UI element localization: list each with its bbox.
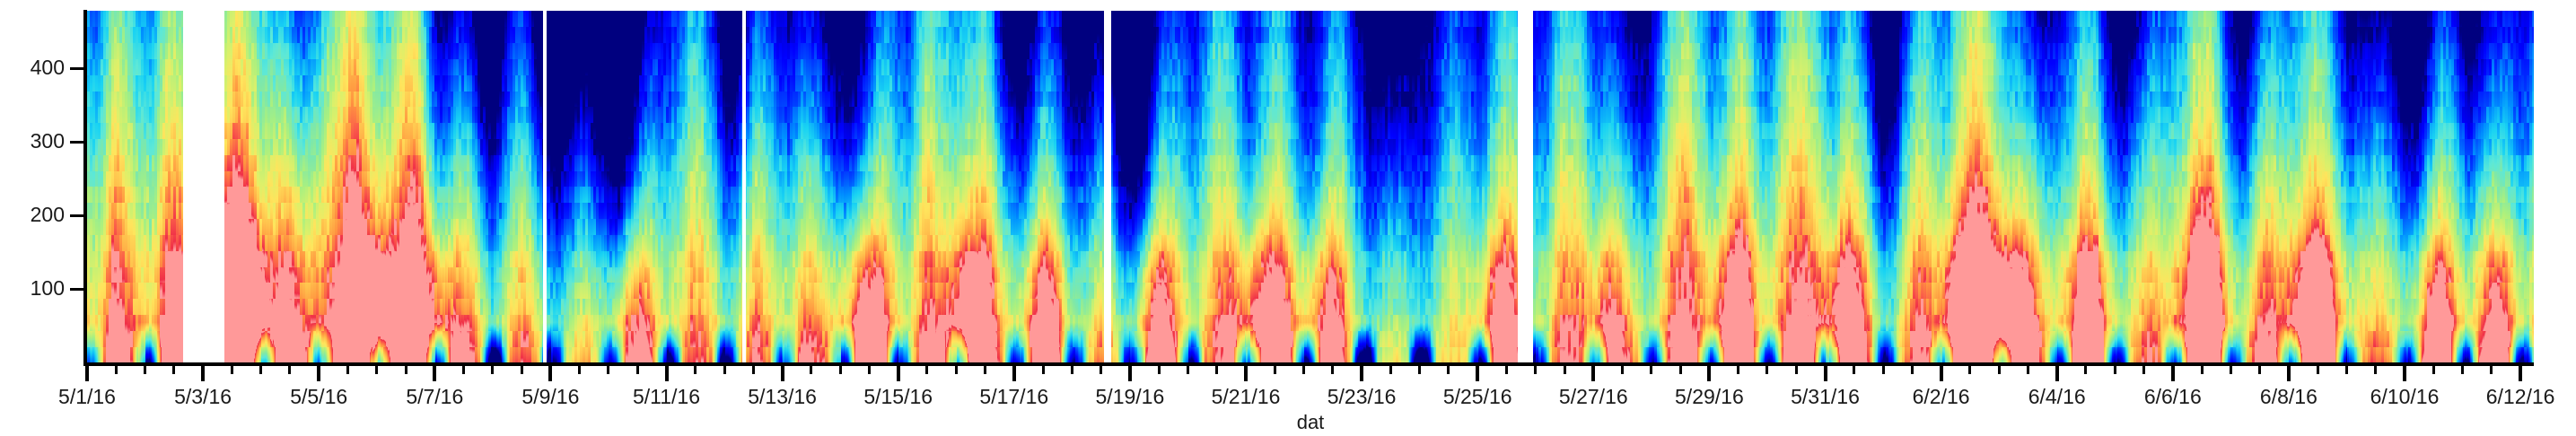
x-tick-major-21 <box>2519 366 2522 381</box>
x-tick-minor <box>752 366 755 374</box>
y-tick-label-100: 100 <box>0 278 65 299</box>
x-tick-label-19: 6/8/16 <box>2260 386 2318 407</box>
x-tick-minor <box>955 366 958 374</box>
x-tick-label-17: 6/4/16 <box>2028 386 2086 407</box>
x-tick-major-16 <box>1940 366 1943 381</box>
x-tick-minor <box>868 366 871 374</box>
x-tick-minor <box>1650 366 1652 374</box>
x-tick-label-10: 5/21/16 <box>1212 386 1281 407</box>
heatmap-canvas <box>87 11 2534 362</box>
x-tick-major-3 <box>433 366 436 381</box>
x-tick-minor <box>1331 366 1334 374</box>
x-tick-major-10 <box>1244 366 1248 381</box>
x-tick-minor <box>810 366 812 374</box>
x-tick-minor <box>2258 366 2261 374</box>
x-tick-minor <box>1968 366 1971 374</box>
x-tick-minor <box>1389 366 1392 374</box>
x-tick-minor <box>694 366 697 374</box>
x-tick-minor <box>1737 366 1739 374</box>
x-tick-label-18: 6/6/16 <box>2144 386 2202 407</box>
x-tick-minor <box>1274 366 1276 374</box>
x-tick-minor <box>1187 366 1189 374</box>
x-tick-minor <box>1564 366 1566 374</box>
x-tick-major-15 <box>1824 366 1827 381</box>
y-tick-label-200: 200 <box>0 205 65 225</box>
x-tick-minor <box>2027 366 2029 374</box>
x-tick-minor <box>723 366 726 374</box>
x-tick-minor <box>405 366 407 374</box>
x-tick-major-4 <box>548 366 552 381</box>
x-tick-major-17 <box>2055 366 2059 381</box>
x-tick-label-9: 5/19/16 <box>1096 386 1165 407</box>
x-tick-major-11 <box>1360 366 1363 381</box>
x-tick-label-21: 6/12/16 <box>2486 386 2555 407</box>
x-tick-major-20 <box>2403 366 2406 381</box>
x-tick-major-19 <box>2287 366 2291 381</box>
x-tick-minor <box>1505 366 1508 374</box>
x-tick-label-5: 5/11/16 <box>633 386 700 407</box>
x-tick-minor <box>1302 366 1305 374</box>
x-tick-label-15: 5/31/16 <box>1791 386 1860 407</box>
x-tick-minor <box>1795 366 1798 374</box>
x-tick-minor <box>2490 366 2493 374</box>
x-tick-minor <box>288 366 291 374</box>
x-tick-minor <box>2461 366 2464 374</box>
spectrogram-figure: 100200300400 5/1/165/3/165/5/165/7/165/9… <box>0 0 2576 436</box>
x-axis-line <box>83 362 2534 366</box>
x-tick-minor <box>984 366 986 374</box>
x-tick-minor <box>462 366 465 374</box>
x-tick-minor <box>2317 366 2319 374</box>
x-tick-minor <box>578 366 581 374</box>
x-tick-minor <box>2374 366 2377 374</box>
x-tick-minor <box>2345 366 2348 374</box>
y-tick-100 <box>70 288 84 291</box>
x-tick-major-9 <box>1128 366 1132 381</box>
x-tick-major-5 <box>665 366 669 381</box>
x-tick-minor <box>1100 366 1102 374</box>
x-tick-minor <box>1447 366 1450 374</box>
y-tick-label-400: 400 <box>0 57 65 78</box>
x-tick-label-1: 5/3/16 <box>174 386 232 407</box>
x-tick-minor <box>1853 366 1855 374</box>
x-tick-minor <box>144 366 146 374</box>
x-tick-minor <box>607 366 609 374</box>
x-tick-minor <box>1911 366 1914 374</box>
x-tick-major-2 <box>317 366 320 381</box>
x-tick-minor <box>1998 366 2001 374</box>
heatmap-plot-area <box>87 11 2534 362</box>
y-tick-200 <box>70 214 84 217</box>
x-tick-minor <box>231 366 233 374</box>
x-tick-major-7 <box>897 366 900 381</box>
x-tick-major-0 <box>85 366 89 381</box>
x-tick-minor <box>839 366 842 374</box>
x-tick-major-18 <box>2171 366 2175 381</box>
x-tick-minor <box>375 366 378 374</box>
x-tick-minor <box>925 366 928 374</box>
x-tick-label-16: 6/2/16 <box>1913 386 1970 407</box>
x-tick-label-14: 5/29/16 <box>1675 386 1744 407</box>
x-tick-minor <box>1042 366 1045 374</box>
x-tick-label-7: 5/15/16 <box>863 386 933 407</box>
x-tick-major-8 <box>1012 366 1016 381</box>
x-tick-minor <box>521 366 523 374</box>
y-tick-300 <box>70 141 84 144</box>
x-tick-label-8: 5/17/16 <box>979 386 1048 407</box>
x-tick-label-11: 5/23/16 <box>1327 386 1397 407</box>
x-tick-minor <box>1621 366 1624 374</box>
x-tick-major-14 <box>1707 366 1711 381</box>
x-tick-major-1 <box>201 366 205 381</box>
x-tick-label-2: 5/5/16 <box>290 386 347 407</box>
x-tick-minor <box>1534 366 1537 374</box>
x-tick-minor <box>346 366 349 374</box>
x-tick-minor <box>2432 366 2435 374</box>
x-tick-label-13: 5/27/16 <box>1559 386 1628 407</box>
x-tick-minor <box>1215 366 1218 374</box>
y-tick-400 <box>70 67 84 70</box>
x-tick-label-20: 6/10/16 <box>2370 386 2440 407</box>
x-tick-major-12 <box>1476 366 1479 381</box>
x-tick-label-12: 5/25/16 <box>1443 386 1512 407</box>
x-tick-minor <box>1418 366 1421 374</box>
x-tick-minor <box>1679 366 1682 374</box>
x-tick-minor <box>1158 366 1161 374</box>
y-axis-line <box>83 10 87 363</box>
x-tick-minor <box>1766 366 1768 374</box>
x-tick-label-0: 5/1/16 <box>58 386 116 407</box>
x-tick-minor <box>491 366 494 374</box>
x-tick-minor <box>1071 366 1073 374</box>
x-tick-minor <box>1882 366 1885 374</box>
x-tick-minor <box>115 366 118 374</box>
x-tick-minor <box>2201 366 2204 374</box>
x-tick-minor <box>2084 366 2087 374</box>
x-tick-minor <box>172 366 175 374</box>
x-axis-title: dat <box>1297 411 1325 434</box>
x-tick-label-3: 5/7/16 <box>406 386 463 407</box>
x-tick-label-6: 5/13/16 <box>748 386 817 407</box>
x-tick-minor <box>636 366 639 374</box>
x-tick-minor <box>2114 366 2116 374</box>
x-tick-minor <box>2142 366 2145 374</box>
x-tick-label-4: 5/9/16 <box>521 386 579 407</box>
x-tick-minor <box>2230 366 2232 374</box>
x-tick-major-6 <box>781 366 784 381</box>
y-tick-label-300: 300 <box>0 131 65 152</box>
x-tick-minor <box>259 366 262 374</box>
x-tick-major-13 <box>1591 366 1595 381</box>
